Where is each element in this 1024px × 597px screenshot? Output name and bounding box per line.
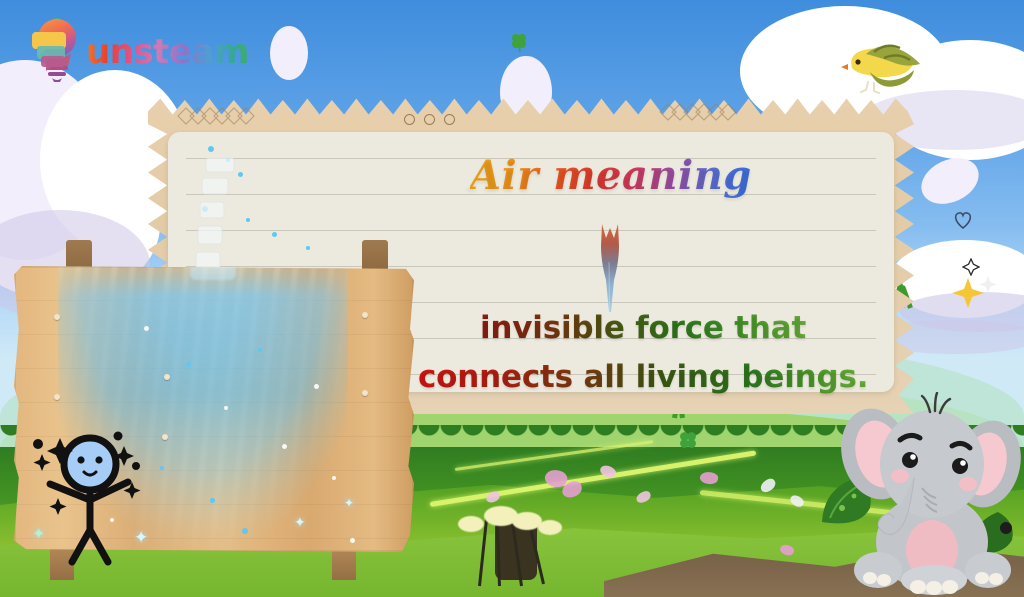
page-title: Air meaning — [470, 152, 752, 199]
paper-rule — [186, 230, 876, 231]
water-droplet — [306, 246, 310, 250]
water-bubble — [350, 538, 355, 543]
brand-name: unsteam — [86, 32, 249, 72]
sparkle-icon — [952, 272, 998, 317]
water-bubble — [282, 444, 287, 449]
definition-line-2: connects all living beings. — [418, 359, 868, 395]
nail-icon — [362, 312, 368, 318]
doodle-person-icon — [32, 426, 162, 571]
diamond-lattice-ornament — [176, 106, 262, 126]
nail-icon — [162, 434, 168, 440]
nail-icon — [54, 394, 60, 400]
pen-nib-icon — [592, 222, 628, 319]
sparkle-icon: ✦ — [344, 496, 354, 510]
heart-outline-icon — [952, 210, 974, 235]
water-bubble — [186, 362, 191, 367]
scene-canvas: Air meaning invisible force that connect… — [0, 0, 1024, 597]
clover-icon — [678, 430, 698, 455]
header-dots — [404, 114, 455, 125]
lightbulb-speech-bubble-icon — [30, 16, 84, 87]
dandelion-head — [458, 516, 484, 532]
nail-icon — [54, 314, 60, 320]
water-bubble — [258, 348, 262, 352]
definition-line-1: invisible force that — [480, 310, 806, 346]
yellow-bird-icon — [840, 34, 926, 107]
header-dot-icon — [404, 114, 415, 125]
water-bubble — [242, 528, 248, 534]
water-bubble — [144, 326, 149, 331]
header-dot-icon — [444, 114, 455, 125]
sparkle-icon: ✦ — [294, 514, 306, 531]
water-bubble — [224, 406, 228, 410]
waterfall-source — [190, 266, 236, 280]
nail-icon — [164, 374, 170, 380]
wooden-sign: ✦ ✦ ✦ ✦ — [14, 258, 432, 578]
clover-icon — [510, 32, 528, 57]
water-droplet — [272, 232, 277, 237]
elephant-icon — [838, 392, 1024, 597]
brand-logo[interactable]: unsteam — [30, 16, 249, 87]
nail-icon — [362, 390, 368, 396]
diamond-lattice-ornament — [658, 102, 744, 122]
dandelion-head — [538, 520, 562, 535]
header-dot-icon — [424, 114, 435, 125]
water-bubble — [314, 384, 319, 389]
cloud — [270, 26, 308, 80]
water-droplet — [208, 146, 214, 152]
water-bubble — [210, 498, 215, 503]
water-bubble — [332, 476, 336, 480]
